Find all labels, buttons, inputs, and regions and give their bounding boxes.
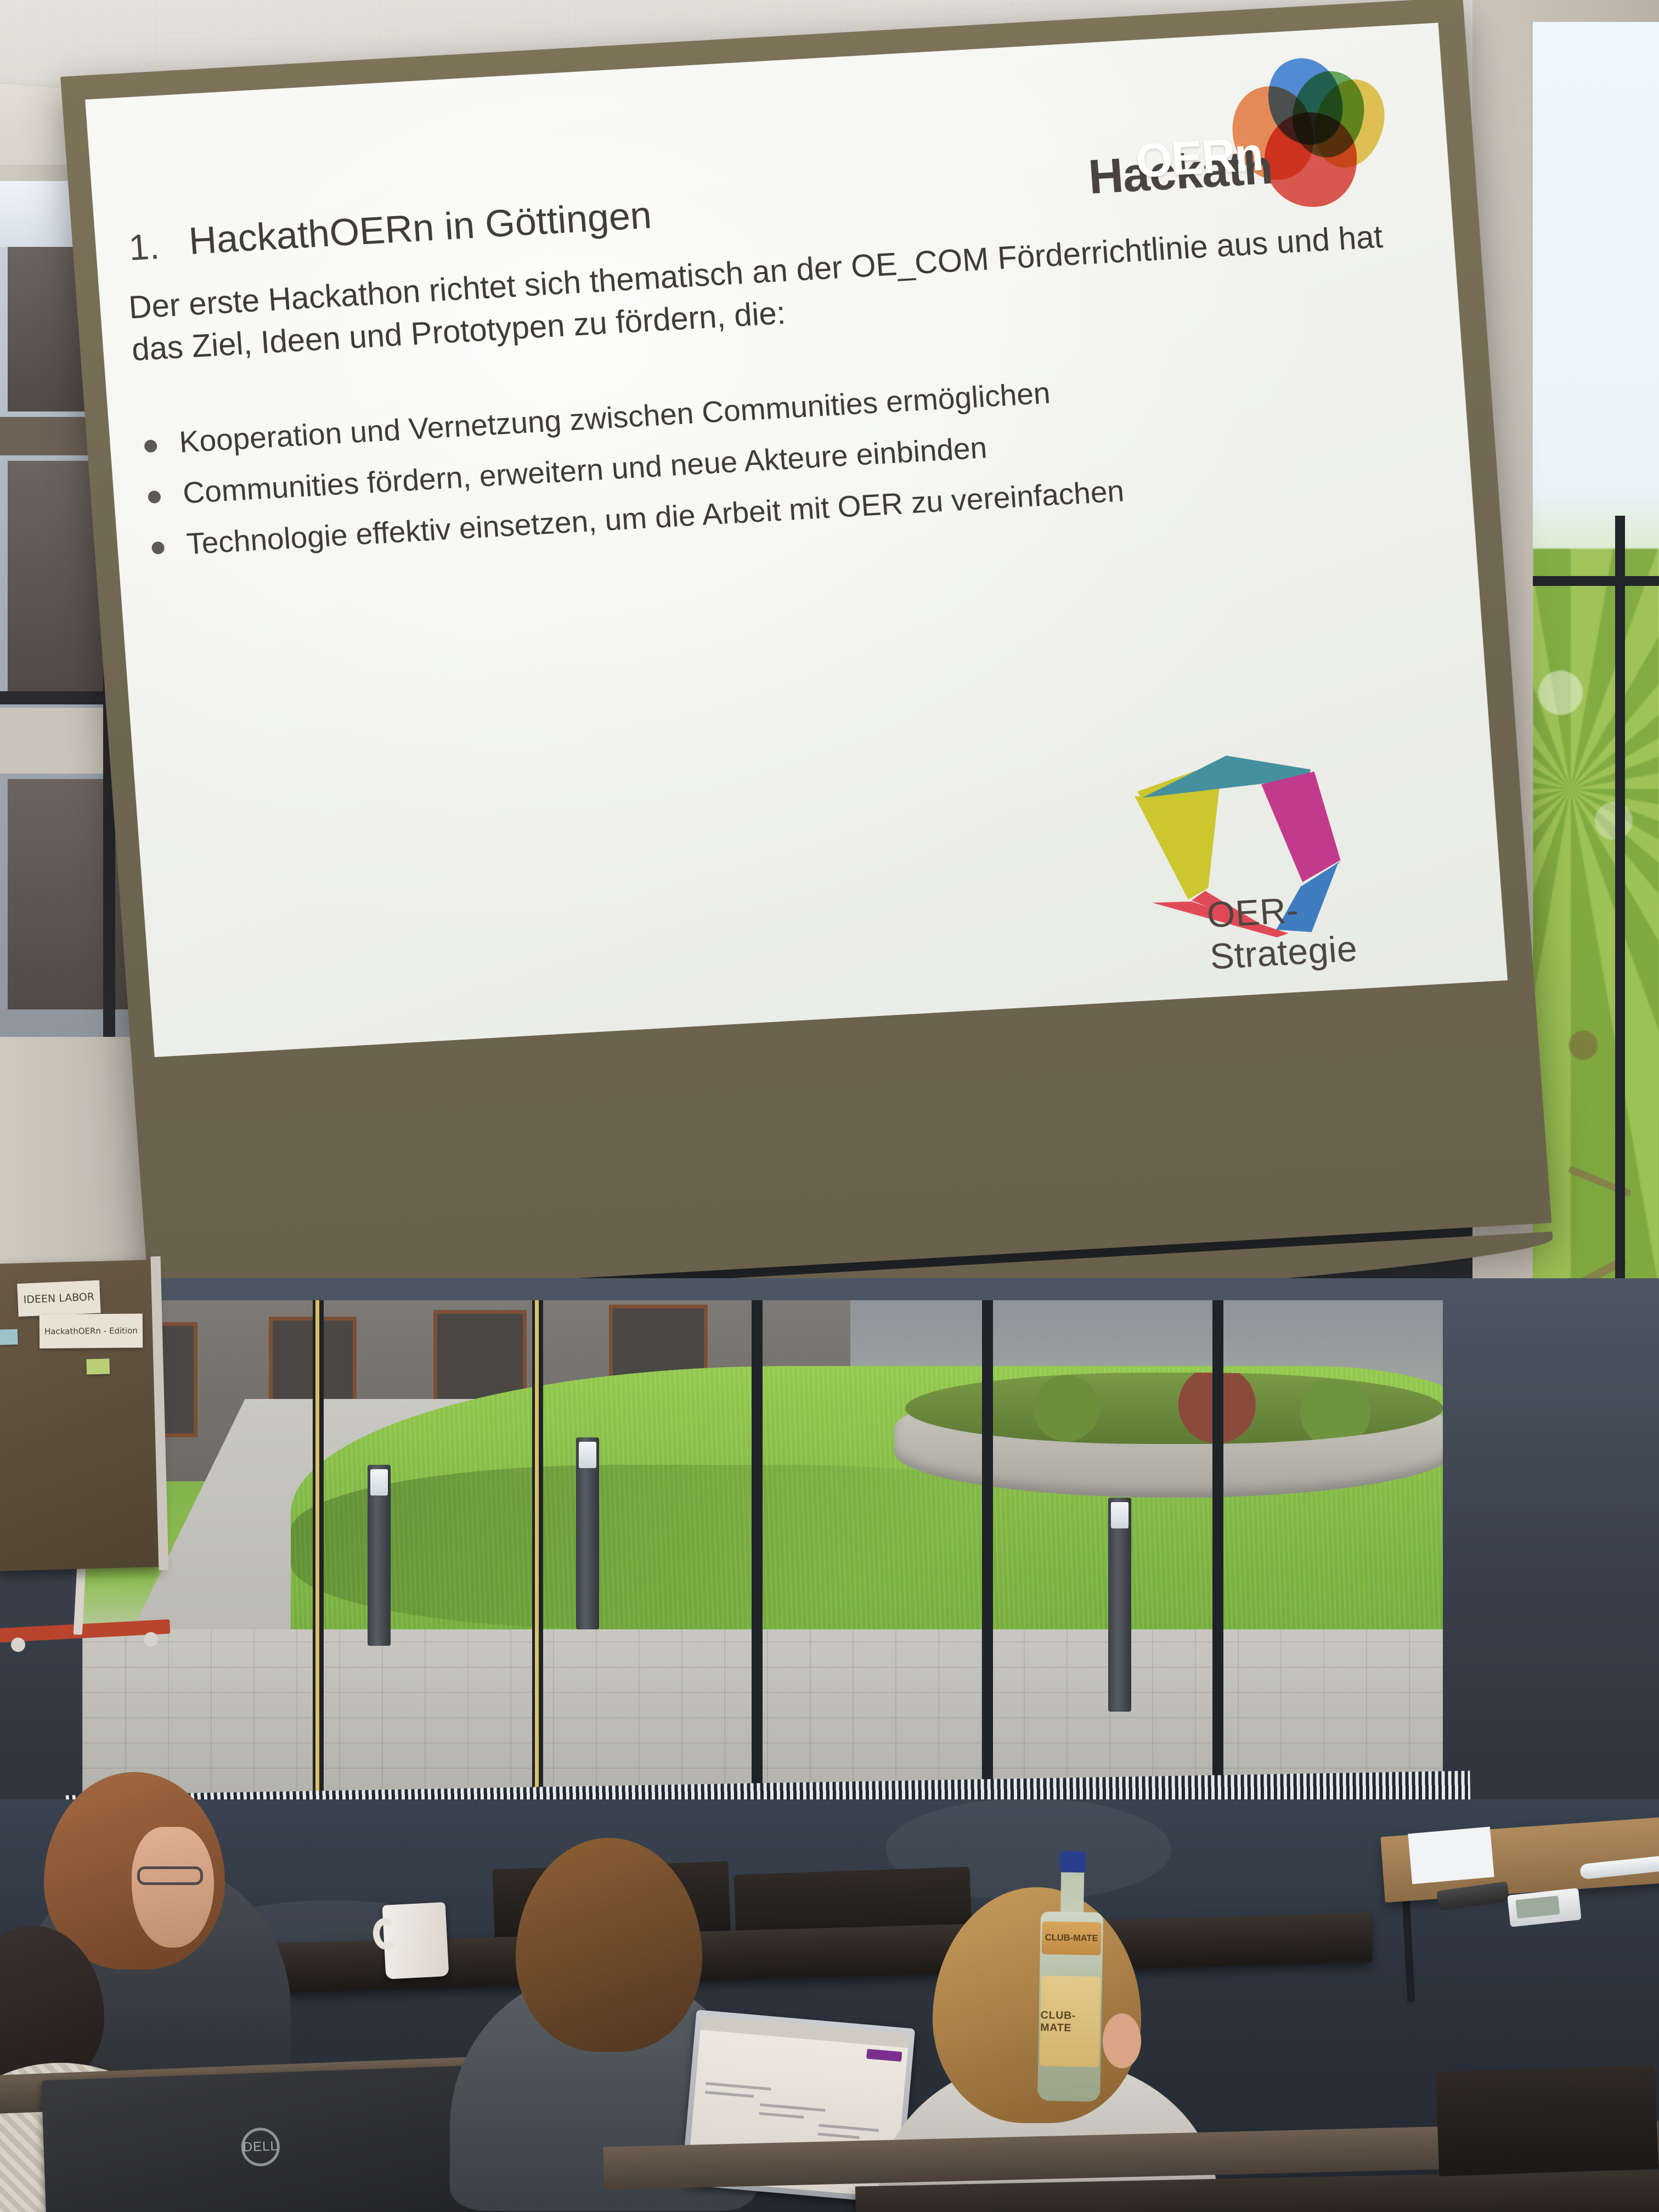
window-mullion [313,1300,324,1794]
lectern-paper [1408,1827,1494,1884]
hackathoern-logo: Hackath OERn [1081,50,1400,232]
bottle-cap [1059,1851,1086,1873]
bottle-main-label: CLUB-MATE [1040,1976,1101,2067]
seat-back [1436,2064,1658,2176]
dell-logo: DELL [241,2127,280,2166]
window-mullion [1212,1300,1223,1794]
pinboard-sign-bottom: HackathOERn - Edition [39,1313,143,1348]
oer-strategie-logo: OER-Strategie [1126,711,1430,984]
window-mullion [752,1300,763,1794]
bollard-light [368,1465,391,1646]
slide-bullet-list: Kooperation und Vernetzung zwischen Comm… [137,353,1441,579]
slide-title: HackathOERn in Göttingen [187,193,653,263]
window-mullion [982,1300,993,1794]
laptop-accent-badge [866,2049,902,2062]
projected-slide: Hackath OERn 1. HackathOERn in Göttingen… [85,22,1508,1057]
bollard-light [576,1437,599,1629]
pinboard: IDEEN LABOR HackathOERn - Edition [0,1260,162,1571]
pinboard-wheel [11,1638,25,1652]
lecture-hall-lower: DELL [0,1278,1659,2212]
pinboard-wheel [144,1632,158,1646]
slide-number: 1. [127,225,161,268]
pavement-stones [82,1629,1443,1794]
dell-laptop: DELL [41,2065,496,2212]
bollard-light [1108,1498,1131,1712]
attendee-face [132,1827,214,1948]
sticky-note-green [86,1358,110,1374]
projection-screen: Hackath OERn 1. HackathOERn in Göttingen… [60,0,1554,1335]
club-mate-bottle: CLUB-MATE CLUB-MATE [1037,1854,1104,2102]
courtyard-window [82,1300,1443,1794]
hackathoern-word-light: OERn [1134,127,1265,189]
right-window [1533,22,1659,1350]
bottle-neck-label: CLUB-MATE [1042,1921,1102,1955]
bottle-neck-label-text: CLUB-MATE [1045,1933,1098,1944]
bottle-main-label-text: CLUB-MATE [1040,2008,1100,2034]
photo-scene: Hackath OERn 1. HackathOERn in Göttingen… [0,0,1659,2212]
oer-strategie-label: OER-Strategie [1205,882,1429,977]
pinboard-sign-top: IDEEN LABOR [17,1280,100,1316]
sticky-note-blue [0,1329,18,1345]
attendee-ear [1103,2013,1141,2068]
attendee-glasses-icon [137,1866,203,1885]
window-mullion [532,1300,543,1794]
